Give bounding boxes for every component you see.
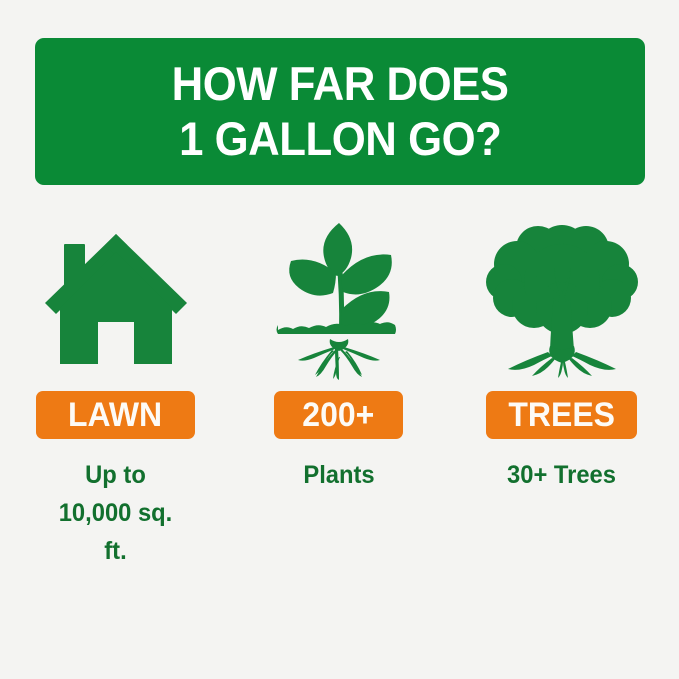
badge-plants[interactable]: 200+ (274, 391, 403, 439)
badge-lawn[interactable]: LAWN (36, 391, 195, 439)
caption-lawn: Up to 10,000 sq. ft. (56, 456, 175, 570)
badge-plants-label: 200+ (303, 398, 375, 432)
coverage-column-lawn: LAWN Up to 10,000 sq. ft. (4, 215, 227, 570)
badge-trees-label: TREES (508, 398, 615, 432)
tree-icon (486, 215, 638, 385)
house-icon (42, 215, 190, 385)
coverage-columns: LAWN Up to 10,000 sq. ft. (0, 215, 679, 570)
caption-trees: 30+ Trees (478, 456, 644, 494)
badge-trees[interactable]: TREES (486, 391, 637, 439)
header-banner: HOW FAR DOES 1 GALLON GO? (35, 38, 645, 185)
plant-icon (272, 215, 406, 385)
banner-title-line-2: 1 GALLON GO? (179, 112, 501, 167)
coverage-column-trees: TREES 30+ Trees (450, 215, 673, 494)
coverage-column-plants: 200+ Plants (227, 215, 450, 494)
banner-title-line-1: HOW FAR DOES (172, 57, 509, 112)
badge-lawn-label: LAWN (68, 398, 162, 432)
caption-plants: Plants (267, 456, 410, 494)
